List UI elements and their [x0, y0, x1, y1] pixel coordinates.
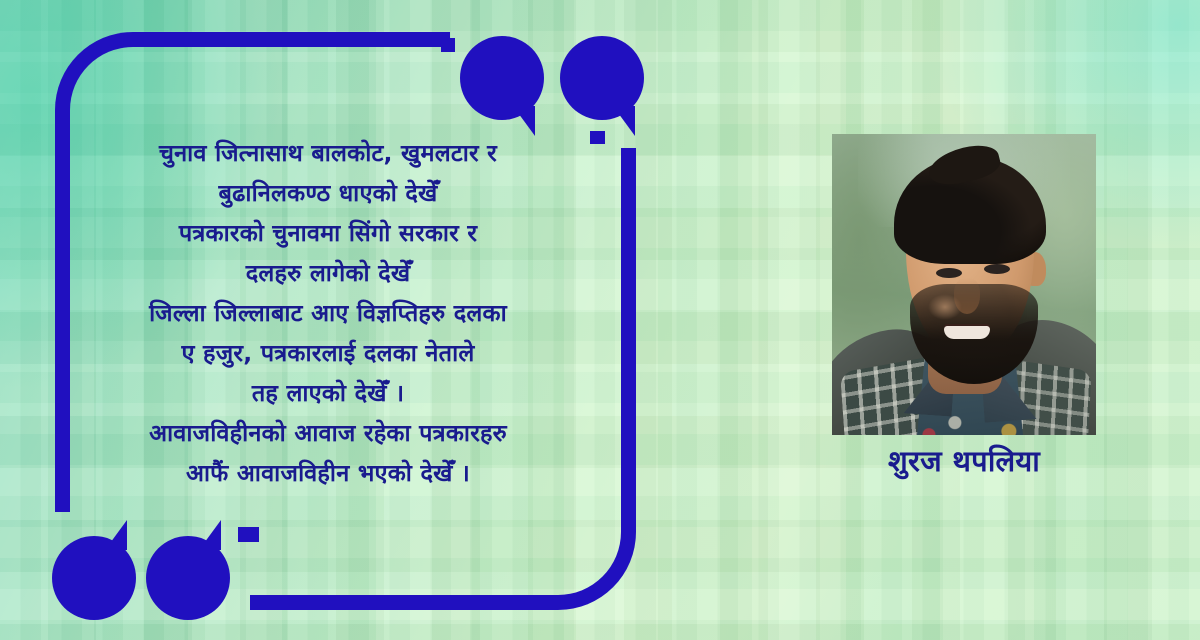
quote-line: आवाजविहीनको आवाज रहेका पत्रकारहरु	[72, 413, 584, 453]
subject-eye-right	[984, 264, 1010, 274]
portrait-image	[832, 134, 1096, 435]
quote-line: जिल्ला जिल्लाबाट आए विज्ञप्तिहरु दलका	[72, 293, 584, 333]
subject-eye-left	[936, 268, 962, 278]
quote-line: चुनाव जित्नासाथ बालकोट, खुमलटार र	[72, 133, 584, 173]
quote-line: पत्रकारको चुनावमा सिंगो सरकार र	[72, 213, 584, 253]
quote-line: आफैं आवाजविहीन भएको देखेँ ।	[72, 453, 584, 493]
subject-smile	[944, 326, 990, 339]
portrait-photo	[832, 134, 1096, 435]
quote-mark-bottom-right-icon	[146, 536, 230, 620]
author-name: शुरज थपलिया	[812, 441, 1116, 481]
quote-mark-bottom-left-icon	[52, 536, 136, 620]
accent-square-mid-right	[590, 131, 605, 144]
accent-square-top	[441, 38, 455, 52]
quote-line: दलहरु लागेको देखेँ	[72, 253, 584, 293]
quote-line: तह लाएको देखेँ ।	[72, 373, 584, 413]
quote-mark-top-left-icon	[460, 36, 544, 120]
quote-text-block: चुनाव जित्नासाथ बालकोट, खुमलटार र बुढानि…	[72, 133, 584, 493]
quote-card: चुनाव जित्नासाथ बालकोट, खुमलटार र बुढानि…	[0, 0, 1200, 640]
accent-square-bottom	[238, 527, 259, 542]
quote-line: बुढानिलकण्ठ धाएको देखेँ	[72, 173, 584, 213]
quote-mark-top-right-icon	[560, 36, 644, 120]
quote-line: ए हजुर, पत्रकारलाई दलका नेताले	[72, 333, 584, 373]
subject-nose	[954, 278, 980, 314]
